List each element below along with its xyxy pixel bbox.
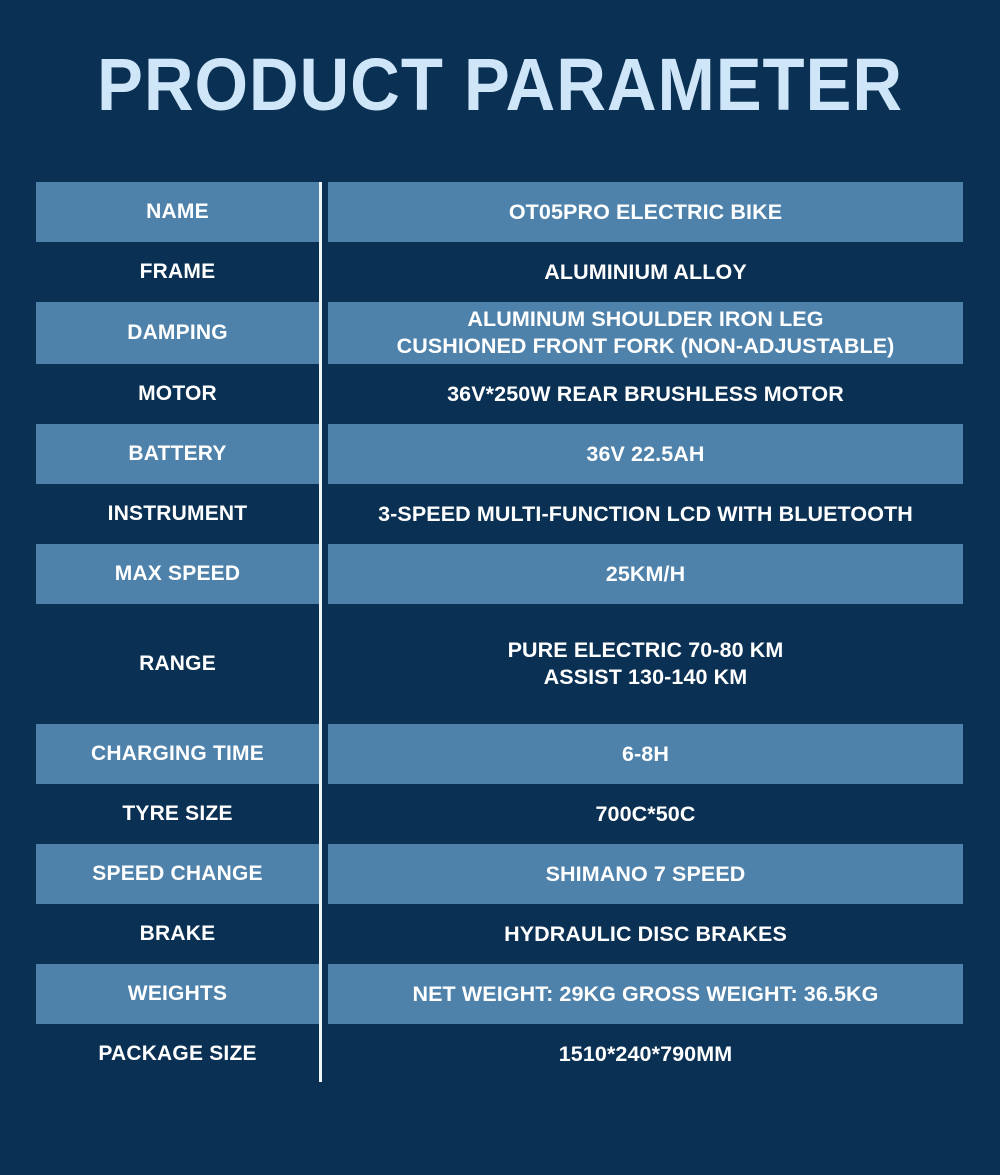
spec-label: CHARGING TIME (36, 724, 319, 784)
spec-label: FRAME (36, 242, 319, 302)
spec-value: 36V 22.5AH (328, 424, 963, 484)
spec-value: 700C*50C (328, 784, 963, 844)
spec-table: NAMEOT05PRO ELECTRIC BIKEFRAMEALUMINIUM … (36, 182, 963, 1084)
spec-label: DAMPING (36, 302, 319, 364)
table-row: MAX SPEED25KM/H (36, 544, 963, 604)
spec-value: ALUMINUM SHOULDER IRON LEGCUSHIONED FRON… (328, 302, 963, 364)
spec-value-line: ALUMINUM SHOULDER IRON LEG (397, 306, 895, 333)
table-row: CHARGING TIME6-8H (36, 724, 963, 784)
table-row: TYRE SIZE700C*50C (36, 784, 963, 844)
spec-value: PURE ELECTRIC 70-80 KMASSIST 130-140 KM (328, 604, 963, 724)
table-row: DAMPINGALUMINUM SHOULDER IRON LEGCUSHION… (36, 302, 963, 364)
spec-label: SPEED CHANGE (36, 844, 319, 904)
spec-value: ALUMINIUM ALLOY (328, 242, 963, 302)
table-row: SPEED CHANGESHIMANO 7 SPEED (36, 844, 963, 904)
spec-value: 36V*250W REAR BRUSHLESS MOTOR (328, 364, 963, 424)
spec-label: RANGE (36, 604, 319, 724)
spec-value: 25KM/H (328, 544, 963, 604)
table-row: FRAMEALUMINIUM ALLOY (36, 242, 963, 302)
spec-label: PACKAGE SIZE (36, 1024, 319, 1084)
spec-value: HYDRAULIC DISC BRAKES (328, 904, 963, 964)
table-row: BATTERY36V 22.5AH (36, 424, 963, 484)
spec-value: 6-8H (328, 724, 963, 784)
table-row: PACKAGE SIZE1510*240*790MM (36, 1024, 963, 1084)
spec-value-line: CUSHIONED FRONT FORK (NON-ADJUSTABLE) (397, 333, 895, 360)
spec-value-line: ASSIST 130-140 KM (508, 664, 784, 691)
table-row: BRAKEHYDRAULIC DISC BRAKES (36, 904, 963, 964)
spec-label: BRAKE (36, 904, 319, 964)
spec-value-line: PURE ELECTRIC 70-80 KM (508, 637, 784, 664)
table-row: INSTRUMENT3-SPEED MULTI-FUNCTION LCD WIT… (36, 484, 963, 544)
product-parameter-page: PRODUCT PARAMETER NAMEOT05PRO ELECTRIC B… (0, 0, 1000, 1175)
table-row: WEIGHTSNET WEIGHT: 29KG GROSS WEIGHT: 36… (36, 964, 963, 1024)
spec-label: WEIGHTS (36, 964, 319, 1024)
spec-value: OT05PRO ELECTRIC BIKE (328, 182, 963, 242)
spec-label: TYRE SIZE (36, 784, 319, 844)
spec-label: BATTERY (36, 424, 319, 484)
table-row: RANGEPURE ELECTRIC 70-80 KMASSIST 130-14… (36, 604, 963, 724)
table-row: NAMEOT05PRO ELECTRIC BIKE (36, 182, 963, 242)
spec-label: MAX SPEED (36, 544, 319, 604)
table-row: MOTOR36V*250W REAR BRUSHLESS MOTOR (36, 364, 963, 424)
spec-label: MOTOR (36, 364, 319, 424)
spec-value: NET WEIGHT: 29KG GROSS WEIGHT: 36.5KG (328, 964, 963, 1024)
spec-value: SHIMANO 7 SPEED (328, 844, 963, 904)
spec-value: 3-SPEED MULTI-FUNCTION LCD WITH BLUETOOT… (328, 484, 963, 544)
spec-label: INSTRUMENT (36, 484, 319, 544)
page-title: PRODUCT PARAMETER (35, 44, 965, 126)
column-divider (319, 182, 322, 1082)
spec-value: 1510*240*790MM (328, 1024, 963, 1084)
spec-label: NAME (36, 182, 319, 242)
